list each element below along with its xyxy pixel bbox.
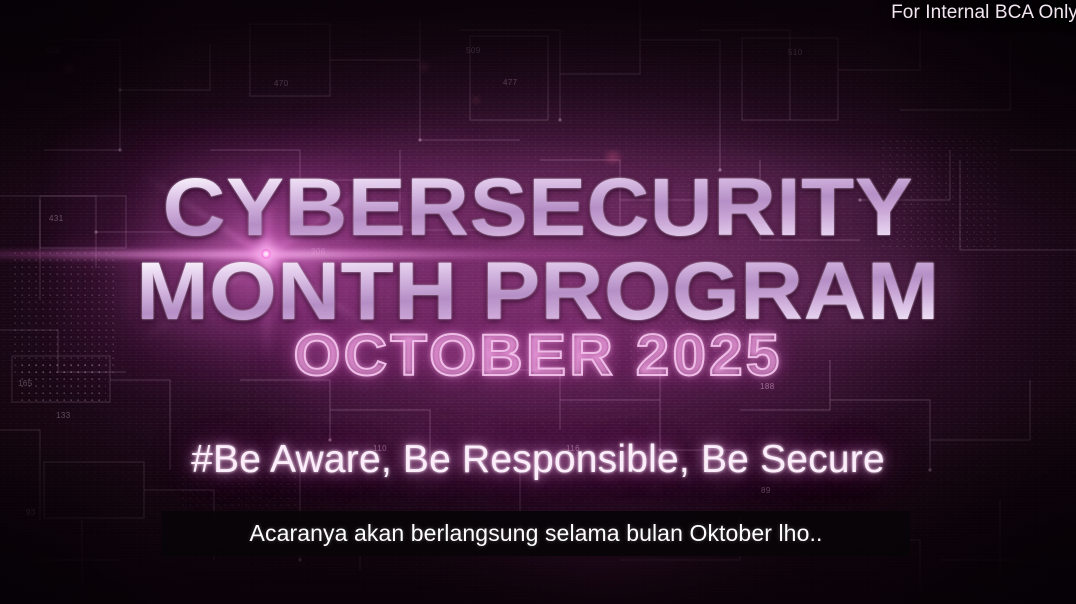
title-line-month-program: MONTH PROGRAM <box>0 252 1076 332</box>
subtitle-caption-text: Acaranya akan berlangsung selama bulan O… <box>250 520 823 547</box>
subtitle-caption-bar: Acaranya akan berlangsung selama bulan O… <box>162 511 910 556</box>
title-line-cybersecurity: CYBERSECURITY <box>0 168 1076 248</box>
event-date: OCTOBER 2025 <box>0 322 1076 389</box>
internal-use-notice: For Internal BCA Only <box>891 2 1076 24</box>
page-title: CYBERSECURITY MONTH PROGRAM <box>0 168 1076 331</box>
campaign-tagline: #Be Aware, Be Responsible, Be Secure <box>0 438 1076 482</box>
cybersecurity-banner: 4065095104774704313063281651331881101168… <box>0 0 1076 604</box>
